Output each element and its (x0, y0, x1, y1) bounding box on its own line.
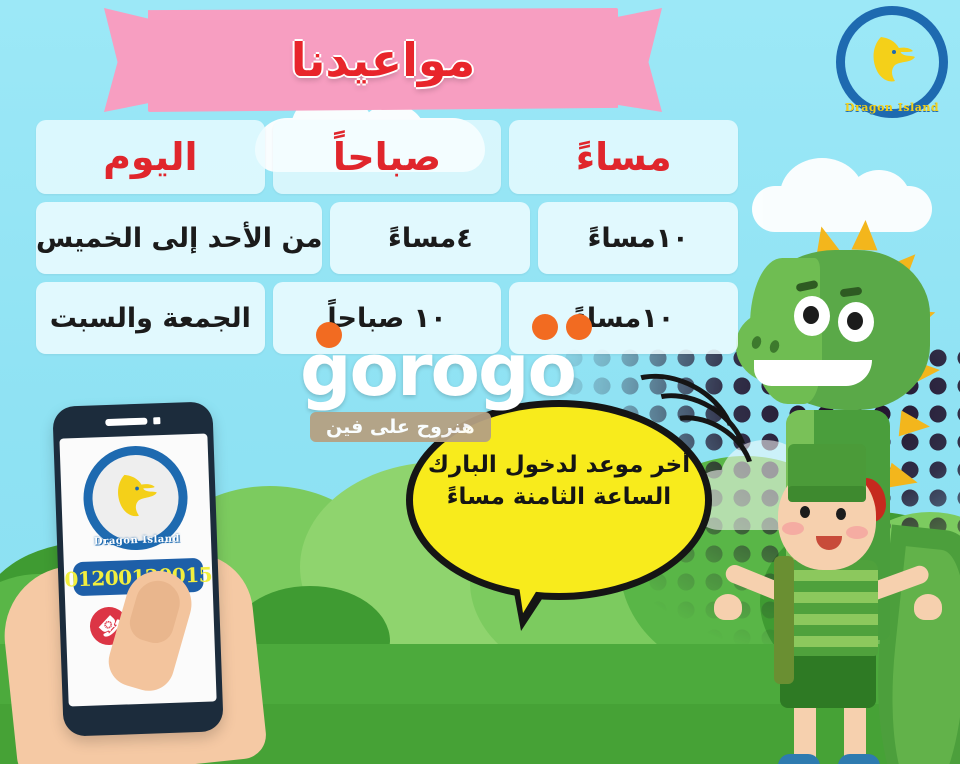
header-label-morning: صباحاً (333, 138, 441, 176)
dragon-spike (899, 411, 932, 440)
cell-evening: ١٠مساءً (509, 282, 738, 354)
dragon-spike (851, 220, 878, 251)
table-row: ١٠مساءً ٤مساءً من الأحد إلى الخميس (36, 202, 738, 274)
table-header-row: مساءً صباحاً اليوم (36, 120, 738, 194)
schedule-table: مساءً صباحاً اليوم ١٠مساءً ٤مساءً من الأ… (36, 120, 738, 362)
cell-morning: ٤مساءً (330, 202, 530, 274)
boy-cheek (846, 526, 868, 539)
header-cell-morning: صباحاً (273, 120, 502, 194)
value-day: من الأحد إلى الخميس (36, 225, 322, 252)
banner-ribbon: مواعيدنا (148, 8, 618, 112)
dragon-eye (838, 302, 874, 342)
dragon-mouth (754, 360, 872, 386)
table-row: ١٠مساءً ١٠ صباحاً الجمعة والسبت (36, 282, 738, 354)
boy-shorts (780, 650, 876, 708)
cell-evening: ١٠مساءً (538, 202, 738, 274)
dragon-island-logo: Dragon Island (836, 6, 948, 118)
boy-cheek (782, 522, 804, 535)
value-morning: ٤مساءً (388, 225, 473, 252)
header-label-day: اليوم (103, 138, 197, 176)
header-cell-evening: مساءً (509, 120, 738, 194)
notice-text: أخر موعد لدخول البارك الساعة الثامنة مسا… (422, 450, 696, 513)
phone-speaker (105, 417, 160, 426)
boy-strap (774, 556, 794, 684)
page-title: مواعيدنا (148, 8, 618, 112)
boy-hand (714, 594, 742, 620)
boy-hand (914, 594, 942, 620)
boy-character (742, 444, 942, 764)
notice-line-1: أخر موعد لدخول البارك (422, 450, 696, 482)
dragon-head-icon (861, 29, 923, 91)
boy-shoe (838, 754, 880, 764)
boy-shoe (778, 754, 820, 764)
dragon-head-icon (105, 466, 165, 526)
boy-hat-brim (788, 486, 866, 502)
poster-canvas: مواعيدنا Dragon Island مساءً صباحاً اليو… (0, 0, 960, 764)
value-day: الجمعة والسبت (50, 305, 251, 332)
header-label-evening: مساءً (576, 138, 672, 176)
header-cell-day: اليوم (36, 120, 265, 194)
value-morning: ١٠ صباحاً (327, 305, 446, 332)
value-evening: ١٠مساءً (573, 305, 674, 332)
phone-dragon-island-logo: Dragon Island (82, 444, 190, 552)
value-evening: ١٠مساءً (588, 225, 689, 252)
cell-day: من الأحد إلى الخميس (36, 202, 322, 274)
notice-line-2: الساعة الثامنة مساءً (422, 482, 696, 514)
cell-morning: ١٠ صباحاً (273, 282, 502, 354)
dragon-eye (794, 296, 830, 336)
boy-eye (800, 506, 810, 518)
logo-name: Dragon Island (85, 533, 189, 548)
bubble-tail-inner (506, 553, 556, 616)
notice-speech-bubble: أخر موعد لدخول البارك الساعة الثامنة مسا… (406, 400, 712, 600)
logo-name: Dragon Island (836, 101, 948, 114)
cell-day: الجمعة والسبت (36, 282, 265, 354)
boy-eye (836, 508, 846, 520)
